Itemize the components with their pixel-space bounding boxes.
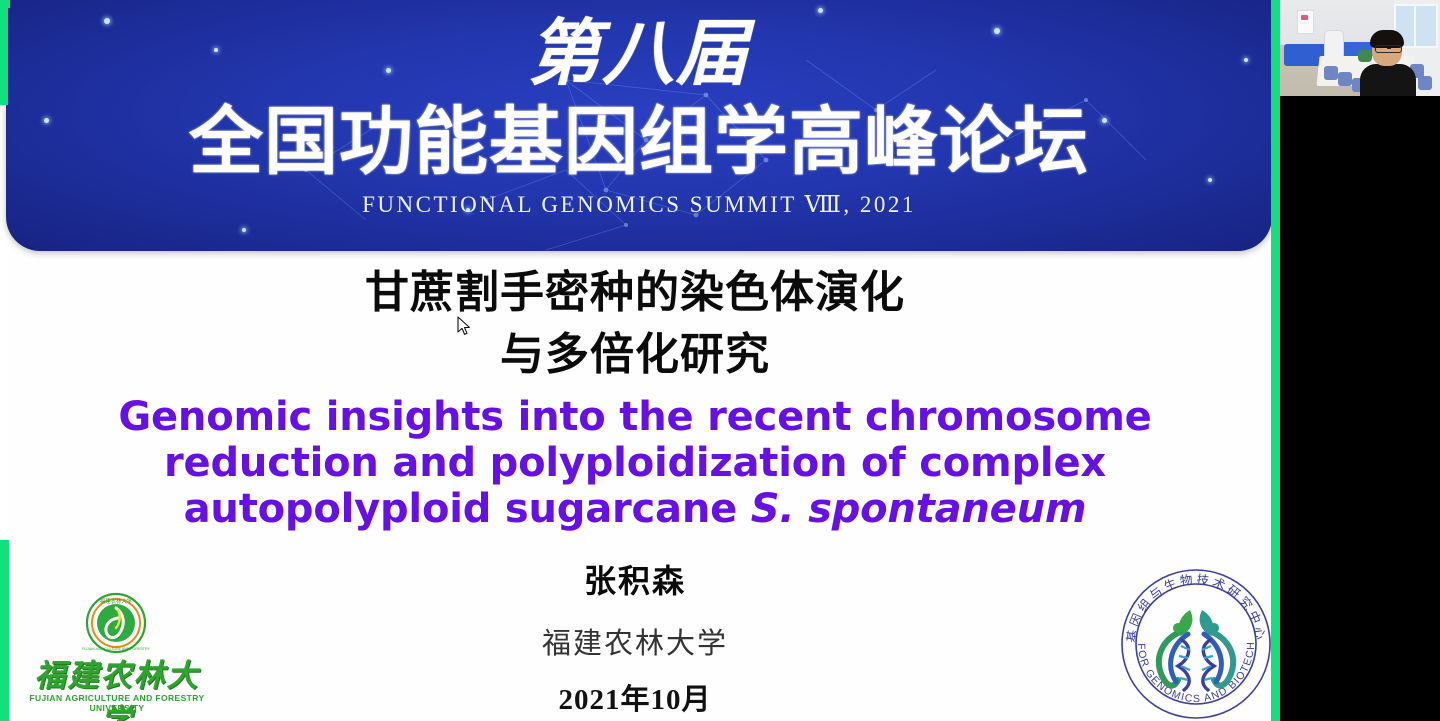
shared-slide[interactable]: 第八届 全国功能基因组学高峰论坛 FUNCTIONAL GENOMICS SUM…: [0, 0, 1280, 721]
screen-share-view: 第八届 全国功能基因组学高峰论坛 FUNCTIONAL GENOMICS SUM…: [0, 0, 1440, 721]
slide-title-cn-line2: 与多倍化研究: [0, 324, 1270, 386]
glasses-icon: [1375, 45, 1402, 53]
participant-video-tile[interactable]: [1280, 0, 1440, 96]
video-chair: [1324, 66, 1338, 80]
cgb-emblem-icon: 基因组与生物技术研究中心 CENTER FOR GENOMICS AND BIO…: [1118, 566, 1274, 721]
species-prefix: autopolyploid sugarcane: [184, 486, 751, 532]
video-wall-poster: [1297, 10, 1314, 34]
svg-text:福建农林大学: 福建农林大学: [100, 597, 133, 605]
species-name: S. spontaneum: [751, 486, 1087, 532]
fafu-name-en: FUJIAN AGRICULTURE AND FORESTRY UNIVERSI…: [22, 693, 212, 713]
video-panel-empty-area: [1280, 96, 1440, 721]
banner-title: 全国功能基因组学高峰论坛: [6, 100, 1272, 184]
share-border-left-lower: [0, 598, 9, 721]
mouse-cursor: [457, 316, 471, 336]
banner-headline: 第八届: [6, 14, 1272, 92]
conference-banner: 第八届 全国功能基因组学高峰论坛 FUNCTIONAL GENOMICS SUM…: [6, 0, 1272, 251]
video-plant: [1358, 50, 1372, 62]
video-person-body: [1360, 64, 1416, 96]
slide-title-en-line3: autopolyploid sugarcane S. spontaneum: [90, 486, 1180, 532]
slide-title-en: Genomic insights into the recent chromos…: [90, 394, 1180, 532]
slide-title-en-line1: Genomic insights into the recent chromos…: [90, 394, 1180, 440]
slide-title-cn: 甘蔗割手密种的染色体演化 与多倍化研究: [0, 262, 1270, 386]
video-chair: [1418, 76, 1432, 90]
slide-title-cn-line1: 甘蔗割手密种的染色体演化: [0, 262, 1270, 324]
share-border-left-upper: [0, 0, 8, 105]
slide-title-en-line2: reduction and polyploidization of comple…: [90, 440, 1180, 486]
fafu-emblem-icon: 福建农林大学 FUJIAN AGRICULTURE AND FORESTRY: [74, 592, 158, 654]
video-chair: [1338, 72, 1352, 86]
active-speaker-highlight: [1276, 0, 1280, 96]
fafu-logo: 福建农林大学 FUJIAN AGRICULTURE AND FORESTRY 福…: [22, 592, 212, 714]
share-border-right: [1271, 0, 1280, 721]
banner-subtitle-en: FUNCTIONAL GENOMICS SUMMIT Ⅷ, 2021: [6, 192, 1272, 218]
cgb-logo: 基因组与生物技术研究中心 CENTER FOR GENOMICS AND BIO…: [1118, 566, 1274, 721]
